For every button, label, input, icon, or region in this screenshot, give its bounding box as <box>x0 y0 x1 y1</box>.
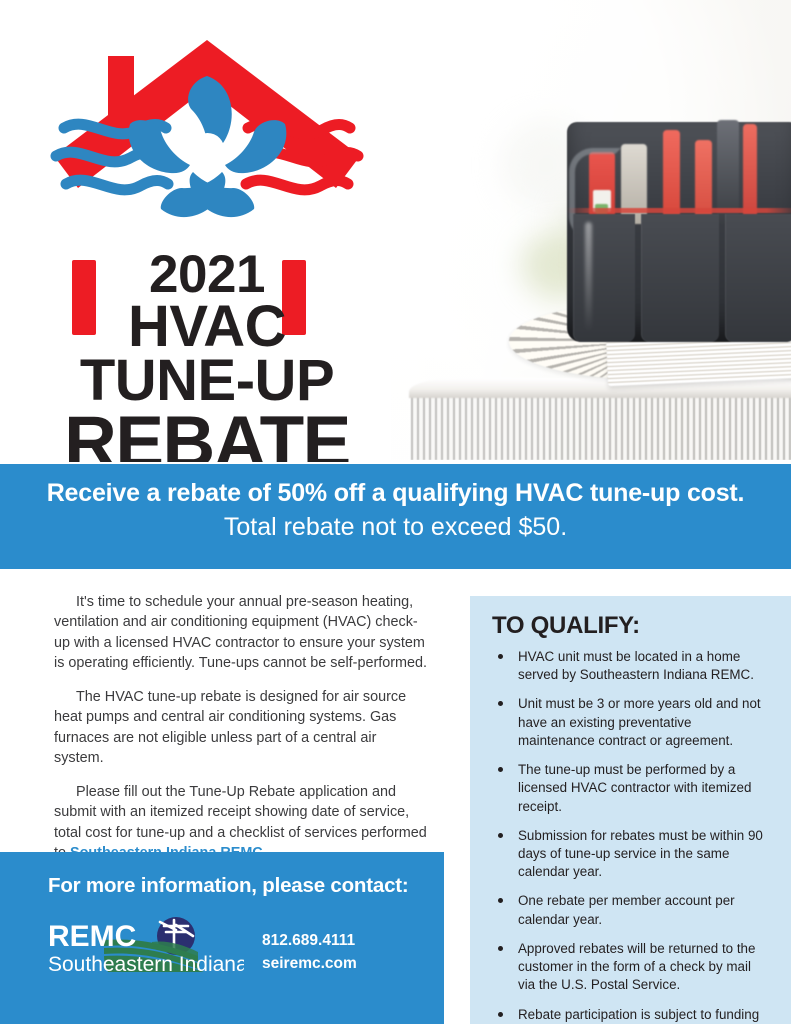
remc-wordmark: REMC <box>48 920 136 953</box>
qualify-list: HVAC unit must be located in a home serv… <box>492 648 771 1024</box>
rebate-flyer-page: 2021 HVAC TUNE-UP REBATE Receive a rebat… <box>0 0 791 1024</box>
list-item: Unit must be 3 or more years old and not… <box>492 695 771 750</box>
remc-logo-icon: REMC Southeastern Indiana <box>48 916 244 978</box>
bullet-icon <box>498 1012 503 1017</box>
qualify-panel: TO QUALIFY: HVAC unit must be located in… <box>470 596 791 1024</box>
body-copy: It's time to schedule your annual pre-se… <box>54 592 429 863</box>
bullet-icon <box>498 654 503 659</box>
contact-row: REMC Southeastern Indiana 812.689.4111 s… <box>48 916 444 978</box>
hero-section: 2021 HVAC TUNE-UP REBATE <box>0 0 791 462</box>
rebate-logo-lockup: 2021 HVAC TUNE-UP REBATE <box>42 28 372 448</box>
tool-bag <box>567 122 791 342</box>
rebate-banner: Receive a rebate of 50% off a qualifying… <box>0 464 791 569</box>
list-item-label: Unit must be 3 or more years old and not… <box>518 696 761 747</box>
bullet-icon <box>498 767 503 772</box>
remc-logo: REMC Southeastern Indiana <box>48 916 244 978</box>
list-item-label: Rebate participation is subject to fundi… <box>518 1007 759 1024</box>
list-item-label: One rebate per member account per calend… <box>518 893 735 926</box>
logo-line-rebate: REBATE <box>42 409 372 462</box>
bullet-icon <box>498 898 503 903</box>
logo-year: 2021 <box>42 250 372 300</box>
logo-line-hvac: HVAC <box>42 300 372 355</box>
logo-title-stack: 2021 HVAC TUNE-UP REBATE <box>42 250 372 462</box>
remc-subwordmark: Southeastern Indiana <box>48 953 244 976</box>
list-item-label: The tune-up must be performed by a licen… <box>518 762 751 813</box>
list-item: Submission for rebates must be within 90… <box>492 827 771 882</box>
bag-seam <box>567 208 791 213</box>
list-item: The tune-up must be performed by a licen… <box>492 761 771 816</box>
banner-headline: Receive a rebate of 50% off a qualifying… <box>0 478 791 509</box>
bullet-icon <box>498 701 503 706</box>
contact-info: 812.689.4111 seiremc.com <box>262 930 357 978</box>
bag-pocket <box>573 214 635 342</box>
hvac-unit-rim <box>409 378 791 398</box>
bag-highlight <box>585 222 592 332</box>
hvac-house-fan-logo <box>42 28 372 278</box>
list-item: Rebate participation is subject to fundi… <box>492 1006 771 1024</box>
list-item: One rebate per member account per calend… <box>492 892 771 928</box>
logo-line-tuneup: TUNE-UP <box>42 354 372 409</box>
bullet-icon <box>498 833 503 838</box>
bullet-icon <box>498 946 503 951</box>
list-item-label: Approved rebates will be returned to the… <box>518 941 755 992</box>
list-item-label: HVAC unit must be located in a home serv… <box>518 649 754 682</box>
body-paragraph-1: It's time to schedule your annual pre-se… <box>54 592 429 674</box>
bag-pocket <box>641 214 719 342</box>
list-item-label: Submission for rebates must be within 90… <box>518 828 763 879</box>
body-paragraph-2: The HVAC tune-up rebate is designed for … <box>54 687 429 769</box>
list-item: Approved rebates will be returned to the… <box>492 940 771 995</box>
contact-panel: For more information, please contact: <box>0 852 444 1024</box>
bag-pocket <box>725 214 791 342</box>
hvac-toolbag-photo <box>391 0 791 460</box>
banner-subheadline: Total rebate not to exceed $50. <box>0 511 791 544</box>
contact-title: For more information, please contact: <box>48 874 444 898</box>
qualify-title: TO QUALIFY: <box>492 612 771 640</box>
contact-phone[interactable]: 812.689.4111 <box>262 930 357 952</box>
list-item: HVAC unit must be located in a home serv… <box>492 648 771 684</box>
contact-website[interactable]: seiremc.com <box>262 953 357 975</box>
